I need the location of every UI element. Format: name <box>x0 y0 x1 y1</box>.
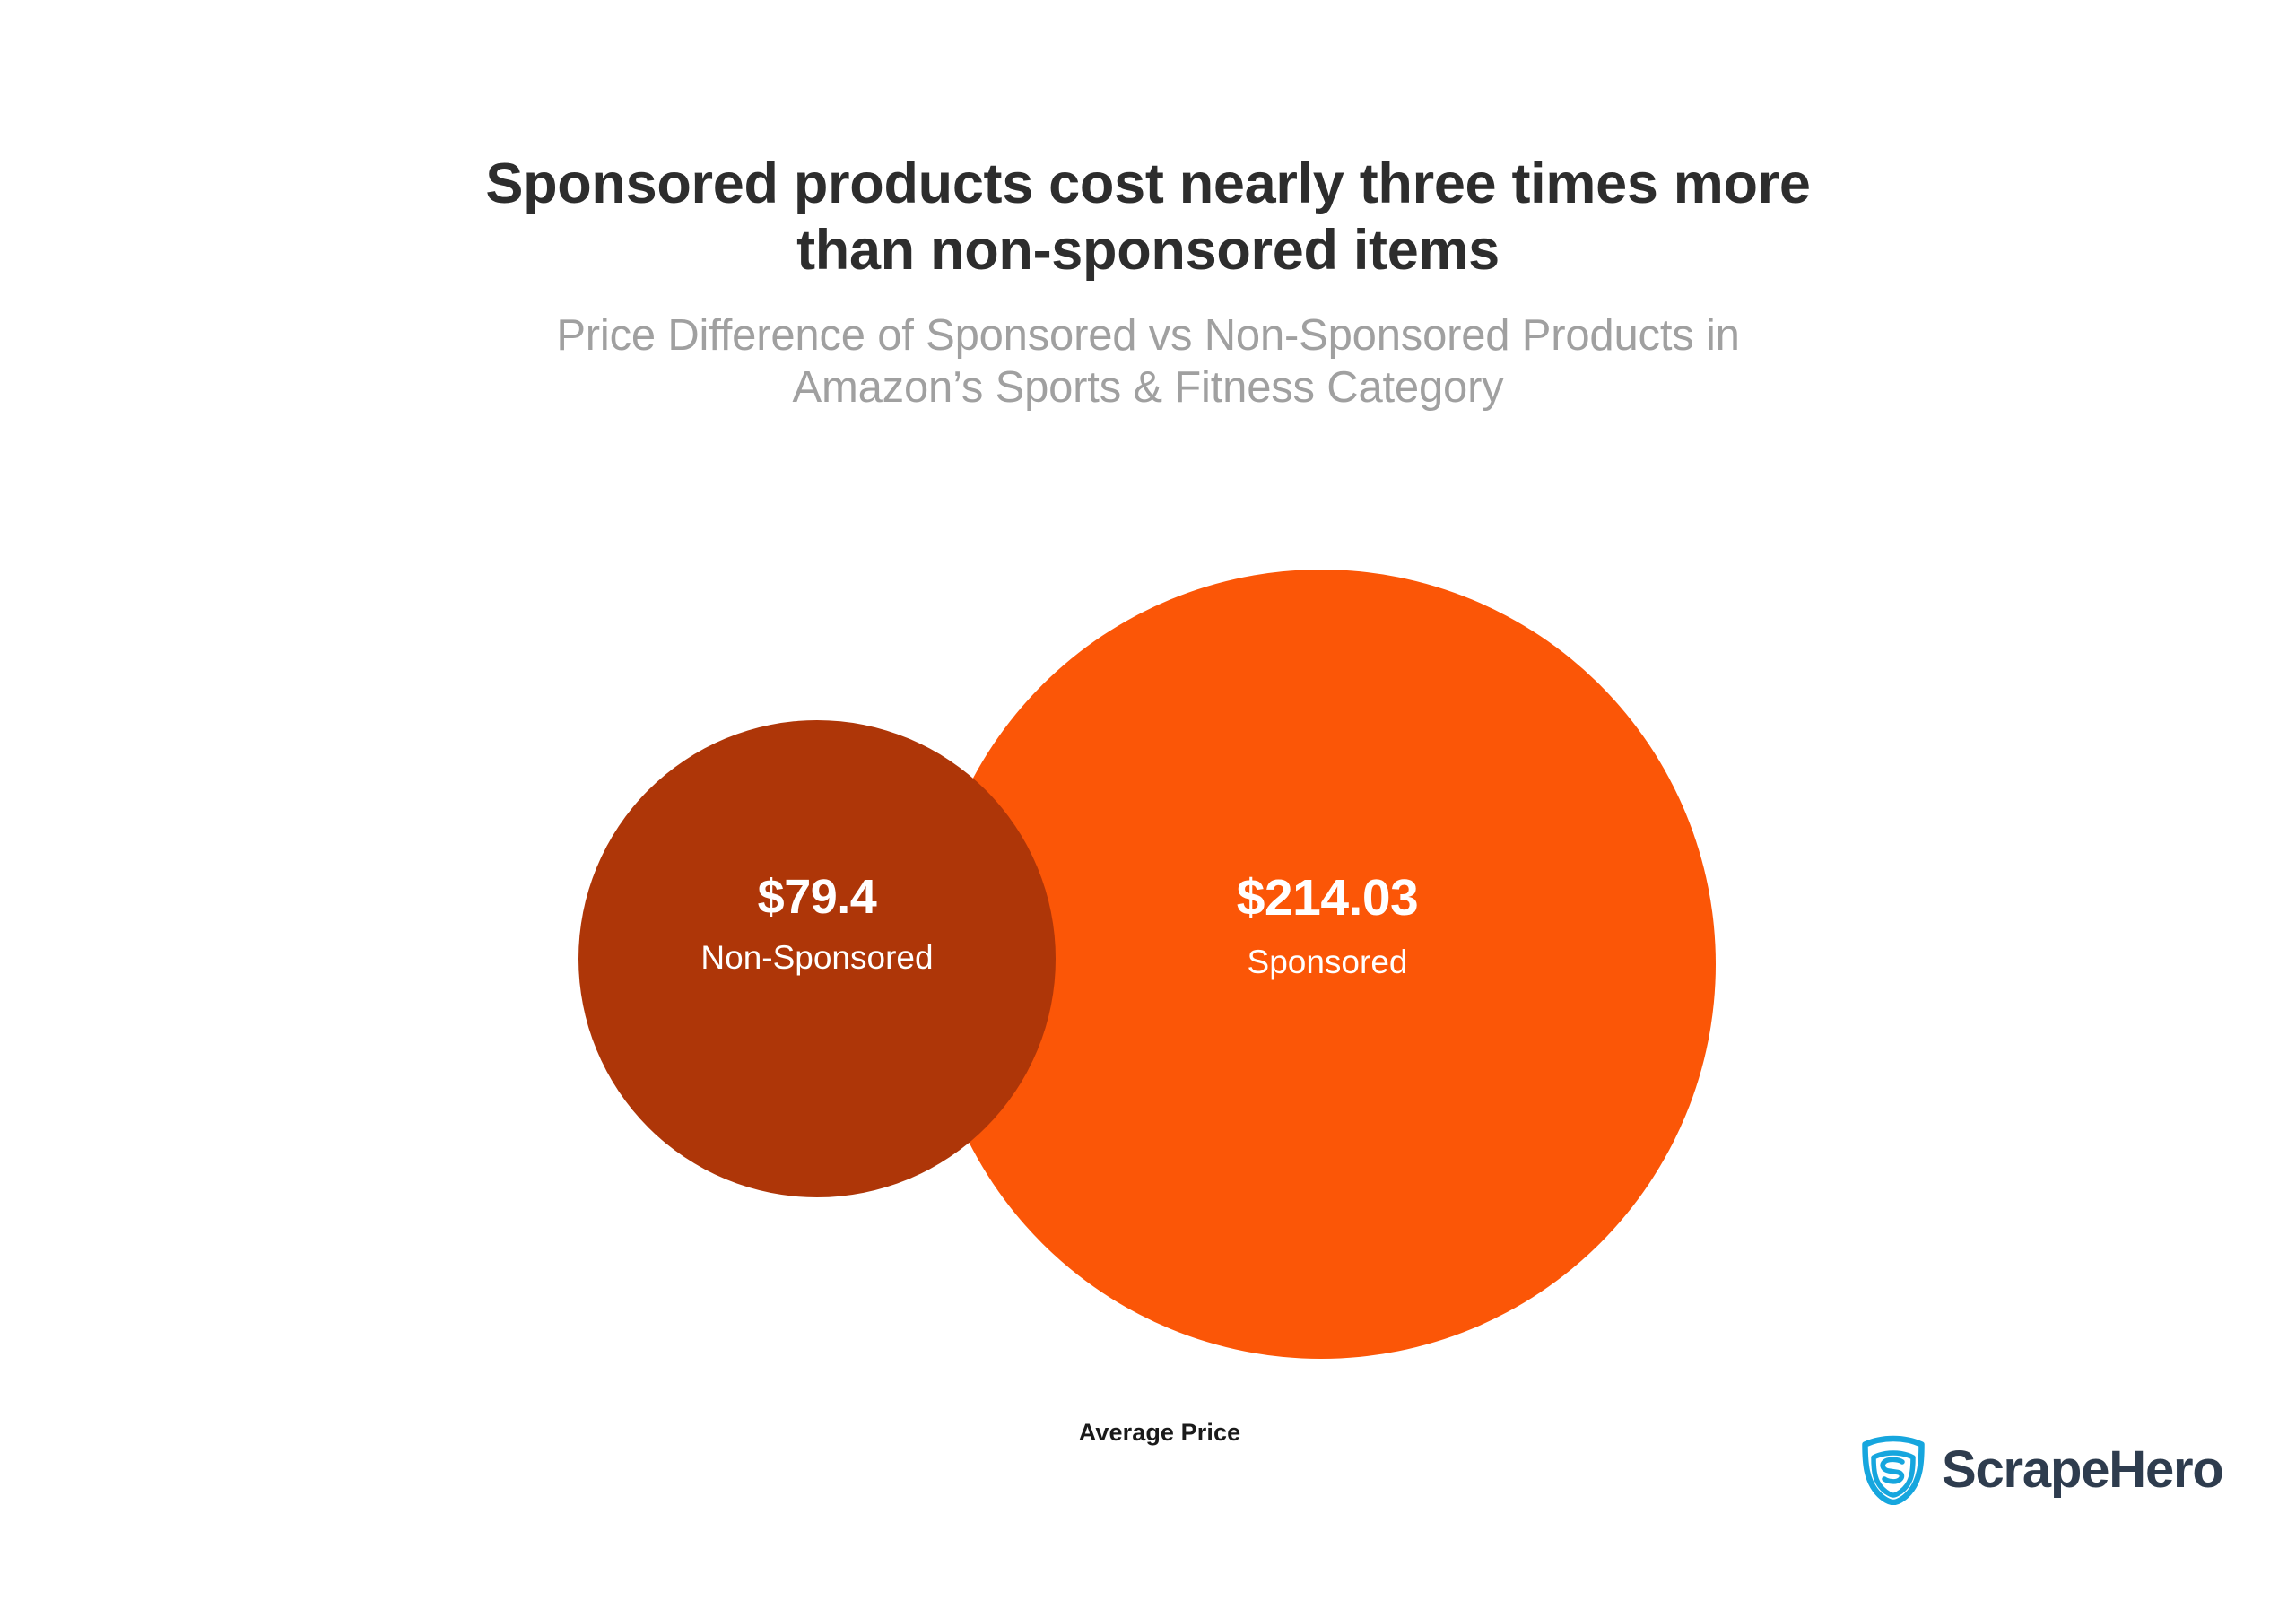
bubble-plot: $79.4 Non-Sponsored $214.03 Sponsored <box>0 0 2296 1618</box>
bubble-non-sponsored[interactable] <box>578 720 1056 1197</box>
chart-canvas: Sponsored products cost nearly three tim… <box>0 0 2296 1618</box>
brand-name: ScrapeHero <box>1942 1444 2223 1496</box>
shield-s-icon <box>1861 1435 1926 1505</box>
brand-logo[interactable]: ScrapeHero <box>1861 1435 2223 1505</box>
axis-caption: Average Price <box>926 1419 1393 1447</box>
